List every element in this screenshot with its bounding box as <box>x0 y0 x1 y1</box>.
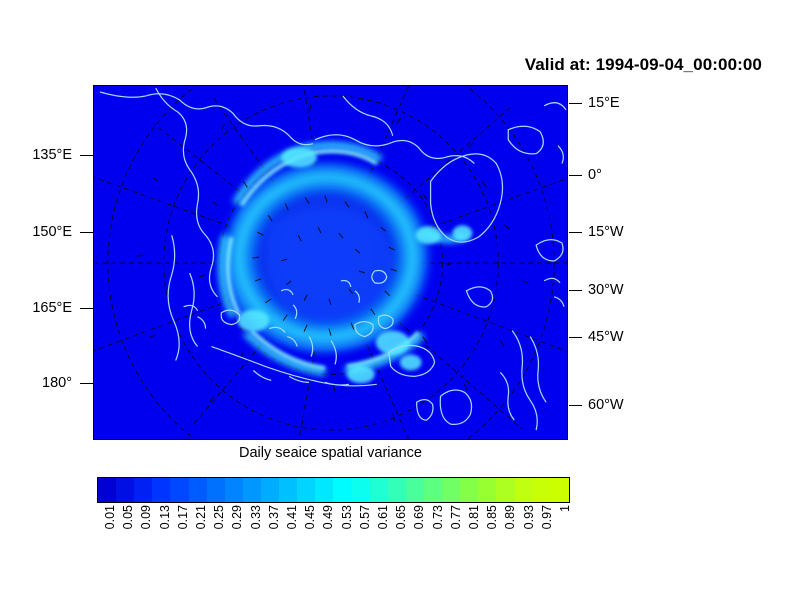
colorbar-band-7 <box>225 478 243 502</box>
colorbar-band-20 <box>460 478 478 502</box>
colorbar-band-14 <box>352 478 370 502</box>
colorbar-tick-5: 0.21 <box>194 505 208 529</box>
tick-left-2 <box>80 308 93 309</box>
axis-label-left-0: 135°E <box>0 147 72 163</box>
colorbar-tick-23: 0.93 <box>522 505 536 529</box>
tick-left-0 <box>80 155 93 156</box>
colorbar-tick-19: 0.77 <box>449 505 463 529</box>
colorbar-tick-21: 0.85 <box>485 505 499 529</box>
colorbar-band-9 <box>261 478 279 502</box>
colorbar-tick-2: 0.09 <box>139 505 153 529</box>
colorbar-band-3 <box>152 478 170 502</box>
colorbar-tick-11: 0.45 <box>303 505 317 529</box>
colorbar-band-17 <box>406 478 424 502</box>
figure-canvas: Valid at: 1994-09-04_00:00:00 <box>0 0 792 612</box>
colorbar-tick-8: 0.33 <box>249 505 263 529</box>
colorbar-tick-13: 0.53 <box>340 505 354 529</box>
colorbar-band-6 <box>207 478 225 502</box>
colorbar-tick-6: 0.25 <box>212 505 226 529</box>
axis-label-left-1: 150°E <box>0 224 72 240</box>
colorbar-caption: Daily seaice spatial variance <box>93 445 568 461</box>
colorbar-tick-25: 1 <box>558 505 572 512</box>
tick-left-1 <box>80 232 93 233</box>
axis-label-right-0: 15°E <box>588 95 620 111</box>
colorbar-tick-9: 0.37 <box>267 505 281 529</box>
colorbar-band-15 <box>370 478 388 502</box>
colorbar-tick-3: 0.13 <box>158 505 172 529</box>
colorbar-tick-labels: 0.010.050.090.130.170.210.250.290.330.37… <box>97 505 570 565</box>
tick-right-3 <box>569 290 582 291</box>
axis-label-right-2: 15°W <box>588 224 624 240</box>
map-raster <box>94 86 567 439</box>
axis-label-left-2: 165°E <box>0 300 72 316</box>
colorbar-band-5 <box>189 478 207 502</box>
colorbar-tick-0: 0.01 <box>103 505 117 529</box>
axis-label-right-1: 0° <box>588 167 602 183</box>
colorbar-band-4 <box>170 478 188 502</box>
colorbar-tick-4: 0.17 <box>176 505 190 529</box>
map-plot-area <box>93 85 568 440</box>
plot-title: Valid at: 1994-09-04_00:00:00 <box>0 55 762 75</box>
colorbar-tick-16: 0.65 <box>394 505 408 529</box>
colorbar-band-8 <box>243 478 261 502</box>
colorbar-band-0 <box>98 478 116 502</box>
colorbar-tick-20: 0.81 <box>467 505 481 529</box>
colorbar <box>97 477 570 503</box>
tick-left-3 <box>80 383 93 384</box>
axis-label-right-4: 45°W <box>588 329 624 345</box>
colorbar-band-13 <box>333 478 351 502</box>
colorbar-band-23 <box>515 478 533 502</box>
colorbar-tick-10: 0.41 <box>285 505 299 529</box>
colorbar-band-25 <box>551 478 569 502</box>
colorbar-tick-7: 0.29 <box>230 505 244 529</box>
colorbar-band-2 <box>134 478 152 502</box>
colorbar-tick-22: 0.89 <box>503 505 517 529</box>
colorbar-band-16 <box>388 478 406 502</box>
colorbar-band-1 <box>116 478 134 502</box>
colorbar-band-24 <box>533 478 551 502</box>
colorbar-tick-12: 0.49 <box>321 505 335 529</box>
colorbar-band-12 <box>315 478 333 502</box>
axis-label-left-3: 180° <box>0 375 72 391</box>
colorbar-tick-24: 0.97 <box>540 505 554 529</box>
colorbar-band-21 <box>478 478 496 502</box>
colorbar-band-19 <box>442 478 460 502</box>
tick-right-2 <box>569 232 582 233</box>
colorbar-band-10 <box>279 478 297 502</box>
axis-label-right-3: 30°W <box>588 282 624 298</box>
tick-right-4 <box>569 337 582 338</box>
colorbar-tick-15: 0.61 <box>376 505 390 529</box>
tick-right-1 <box>569 175 582 176</box>
axis-label-right-5: 60°W <box>588 397 624 413</box>
colorbar-tick-18: 0.73 <box>431 505 445 529</box>
colorbar-band-22 <box>496 478 514 502</box>
colorbar-band-18 <box>424 478 442 502</box>
colorbar-tick-14: 0.57 <box>358 505 372 529</box>
tick-right-5 <box>569 405 582 406</box>
colorbar-band-11 <box>297 478 315 502</box>
tick-right-0 <box>569 103 582 104</box>
colorbar-tick-1: 0.05 <box>121 505 135 529</box>
colorbar-tick-17: 0.69 <box>412 505 426 529</box>
